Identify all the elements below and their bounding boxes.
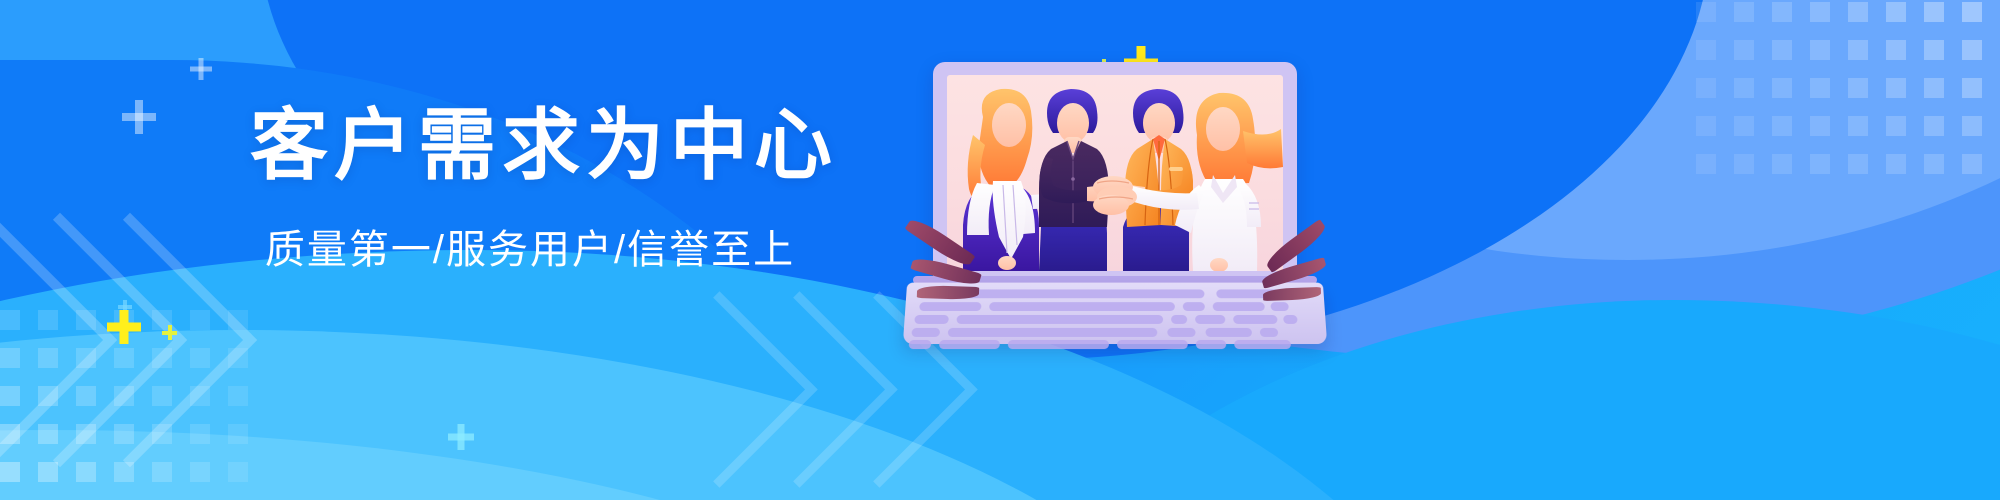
grid-dot xyxy=(114,424,134,444)
grid-dot xyxy=(1810,2,1830,22)
grid-dot xyxy=(76,424,96,444)
grid-dot xyxy=(190,386,210,406)
grid-dot xyxy=(1734,154,1754,174)
grid-dot xyxy=(1772,2,1792,22)
grid-dot xyxy=(1810,116,1830,136)
grid-dot xyxy=(1924,78,1944,98)
grid-dot xyxy=(228,310,248,330)
grid-dot xyxy=(1734,78,1754,98)
keyboard-key xyxy=(911,328,940,337)
grid-dot xyxy=(1924,154,1944,174)
grid-dot xyxy=(1886,154,1906,174)
grid-dot xyxy=(1696,116,1716,136)
keyboard-key xyxy=(1283,315,1298,324)
grid-dot xyxy=(190,348,210,368)
grid-dot xyxy=(228,348,248,368)
grid-dot xyxy=(114,386,134,406)
banner-headline: 客户需求为中心 xyxy=(250,105,810,187)
grid-dot xyxy=(1962,40,1982,60)
team-handshake-illustration xyxy=(947,75,1283,271)
grid-dot xyxy=(0,348,20,368)
grid-dot xyxy=(152,424,172,444)
grid-dot xyxy=(1734,40,1754,60)
white-plus-icon xyxy=(122,100,156,134)
laptop-illustration xyxy=(905,62,1325,362)
keyboard-key xyxy=(909,340,932,349)
grid-dot xyxy=(190,462,210,482)
dot-grid-top-right xyxy=(1696,2,2000,192)
banner-subheadline: 质量第一/服务用户/信誉至上 xyxy=(250,217,810,275)
grid-dot xyxy=(38,310,58,330)
promo-banner: 客户需求为中心 质量第一/服务用户/信誉至上 xyxy=(0,0,2000,500)
laptop-screen xyxy=(947,75,1283,271)
grid-dot xyxy=(152,462,172,482)
grid-dot xyxy=(190,424,210,444)
grid-dot xyxy=(0,424,20,444)
keyboard-key xyxy=(1008,340,1109,349)
grid-dot xyxy=(1696,40,1716,60)
grid-dot xyxy=(1962,78,1982,98)
keyboard-key xyxy=(939,340,1000,349)
grid-dot xyxy=(1772,154,1792,174)
grid-dot xyxy=(1924,40,1944,60)
keyboard-key xyxy=(1234,340,1291,349)
grid-dot xyxy=(38,424,58,444)
keyboard-key xyxy=(1117,340,1188,349)
yellow-plus-icon xyxy=(107,310,141,344)
keyboard-key xyxy=(1171,315,1187,324)
grid-dot xyxy=(1810,154,1830,174)
grid-dot xyxy=(228,462,248,482)
keyboard-key xyxy=(1196,340,1227,349)
cyan-plus-icon xyxy=(448,424,474,450)
keyboard-key xyxy=(1233,315,1278,324)
grid-dot xyxy=(1734,2,1754,22)
grid-dot xyxy=(1696,154,1716,174)
grid-dot xyxy=(1772,40,1792,60)
keyboard-key xyxy=(914,315,949,324)
grid-dot xyxy=(38,386,58,406)
keyboard-key xyxy=(956,315,1163,324)
grid-dot xyxy=(38,462,58,482)
grid-dot xyxy=(152,386,172,406)
banner-text-block: 客户需求为中心 质量第一/服务用户/信誉至上 xyxy=(250,105,810,275)
grid-dot xyxy=(1924,2,1944,22)
grid-dot xyxy=(1696,2,1716,22)
keyboard-key xyxy=(1167,328,1195,337)
keyboard-key xyxy=(1213,302,1265,311)
grid-dot xyxy=(1696,78,1716,98)
keyboard-key xyxy=(919,302,981,311)
grid-dot xyxy=(114,348,134,368)
grid-dot xyxy=(152,348,172,368)
keyboard-key xyxy=(948,328,1158,337)
grid-dot xyxy=(0,386,20,406)
keyboard-key xyxy=(1183,302,1205,311)
keyboard-key xyxy=(1270,302,1288,311)
keyboard-key xyxy=(989,302,1175,311)
leaf-shape xyxy=(917,285,979,300)
grid-dot xyxy=(114,462,134,482)
white-plus-icon xyxy=(190,58,212,80)
grid-dot xyxy=(1886,40,1906,60)
grid-dot xyxy=(1772,116,1792,136)
grid-dot xyxy=(1962,116,1982,136)
grid-dot xyxy=(1848,154,1868,174)
grid-dot xyxy=(1886,116,1906,136)
grid-dot xyxy=(76,310,96,330)
grid-dot xyxy=(1962,154,1982,174)
grid-dot xyxy=(1772,78,1792,98)
grid-dot xyxy=(1848,2,1868,22)
grid-dot xyxy=(76,386,96,406)
grid-dot xyxy=(1848,40,1868,60)
grid-dot xyxy=(1924,116,1944,136)
yellow-plus-icon xyxy=(162,325,177,340)
grid-dot xyxy=(38,348,58,368)
grid-dot xyxy=(76,348,96,368)
grid-dot xyxy=(1886,2,1906,22)
grid-dot xyxy=(0,462,20,482)
grid-dot xyxy=(1848,116,1868,136)
grid-dot xyxy=(0,310,20,330)
keyboard-key xyxy=(1195,315,1225,324)
grid-dot xyxy=(228,424,248,444)
grid-dot xyxy=(1886,78,1906,98)
grid-dot xyxy=(1810,40,1830,60)
grid-dot xyxy=(1810,78,1830,98)
grid-dot xyxy=(76,462,96,482)
grid-dot xyxy=(1962,2,1982,22)
grid-dot xyxy=(190,310,210,330)
keyboard-key xyxy=(1260,328,1279,337)
laptop-lid xyxy=(933,62,1297,284)
grid-dot xyxy=(1734,116,1754,136)
grid-dot xyxy=(228,386,248,406)
keyboard-key xyxy=(1205,328,1252,337)
grid-dot xyxy=(1848,78,1868,98)
